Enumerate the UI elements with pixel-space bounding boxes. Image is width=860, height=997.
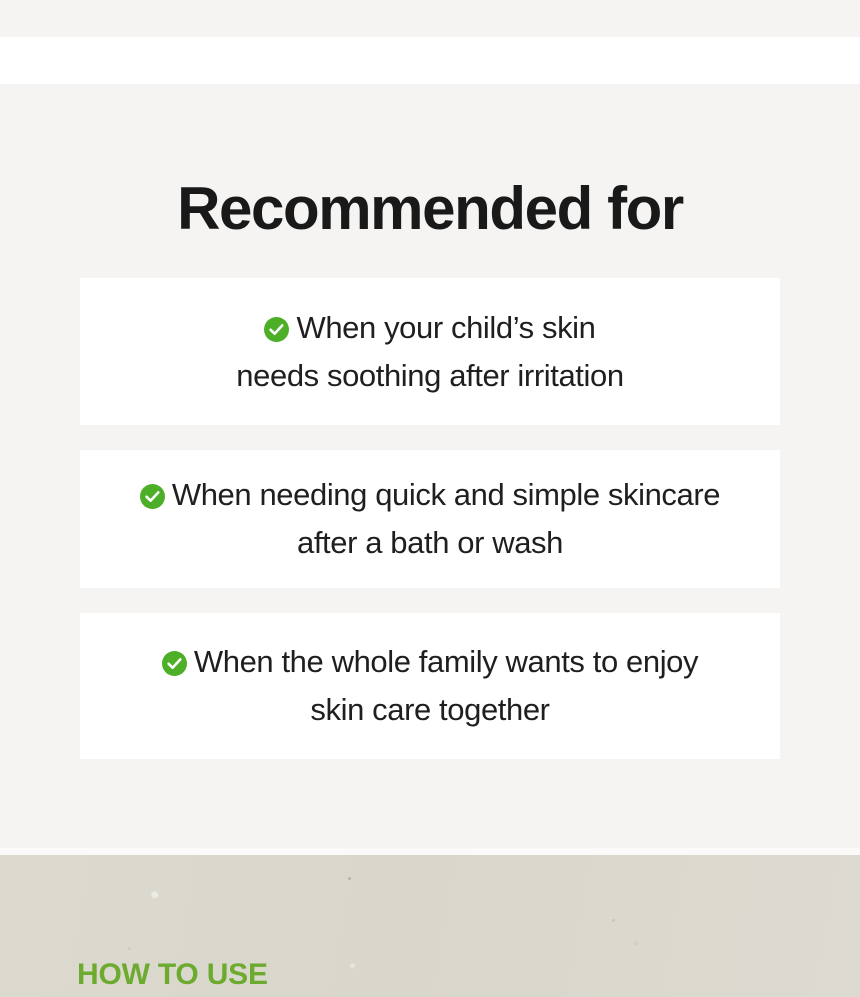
recommended-card-line2: skin care together: [310, 692, 549, 727]
top-gray-band: [0, 0, 860, 37]
recommended-card-line1: When your child’s skin: [296, 310, 595, 345]
recommended-card-text: When needing quick and simple skincare a…: [122, 471, 738, 567]
recommended-card-line2: needs soothing after irritation: [236, 358, 623, 393]
recommended-card-text: When your child’s skin needs soothing af…: [218, 304, 641, 400]
recommended-card-list: When your child’s skin needs soothing af…: [80, 278, 780, 759]
page-title: Recommended for: [0, 174, 860, 244]
top-white-band: [0, 37, 860, 84]
recommended-card-line1: When needing quick and simple skincare: [172, 477, 720, 512]
texture-speck: [612, 919, 615, 922]
recommended-card-text: When the whole family wants to enjoy ski…: [144, 638, 716, 734]
recommended-card: When your child’s skin needs soothing af…: [80, 278, 780, 425]
product-detail-page: Recommended for When your child’s skin n…: [0, 0, 860, 997]
section-divider: [0, 848, 860, 855]
recommended-card-line1: When the whole family wants to enjoy: [194, 644, 698, 679]
recommended-card: When needing quick and simple skincare a…: [80, 450, 780, 588]
check-circle-icon: [264, 317, 289, 342]
texture-speck: [348, 877, 351, 880]
texture-speck: [128, 947, 131, 950]
recommended-card: When the whole family wants to enjoy ski…: [80, 613, 780, 759]
how-to-use-heading: HOW TO USE: [77, 958, 268, 992]
how-to-use-section: HOW TO USE: [0, 855, 860, 997]
recommended-for-section: Recommended for When your child’s skin n…: [0, 84, 860, 848]
check-circle-icon: [162, 651, 187, 676]
recommended-card-line2: after a bath or wash: [297, 525, 563, 560]
check-circle-icon: [140, 484, 165, 509]
